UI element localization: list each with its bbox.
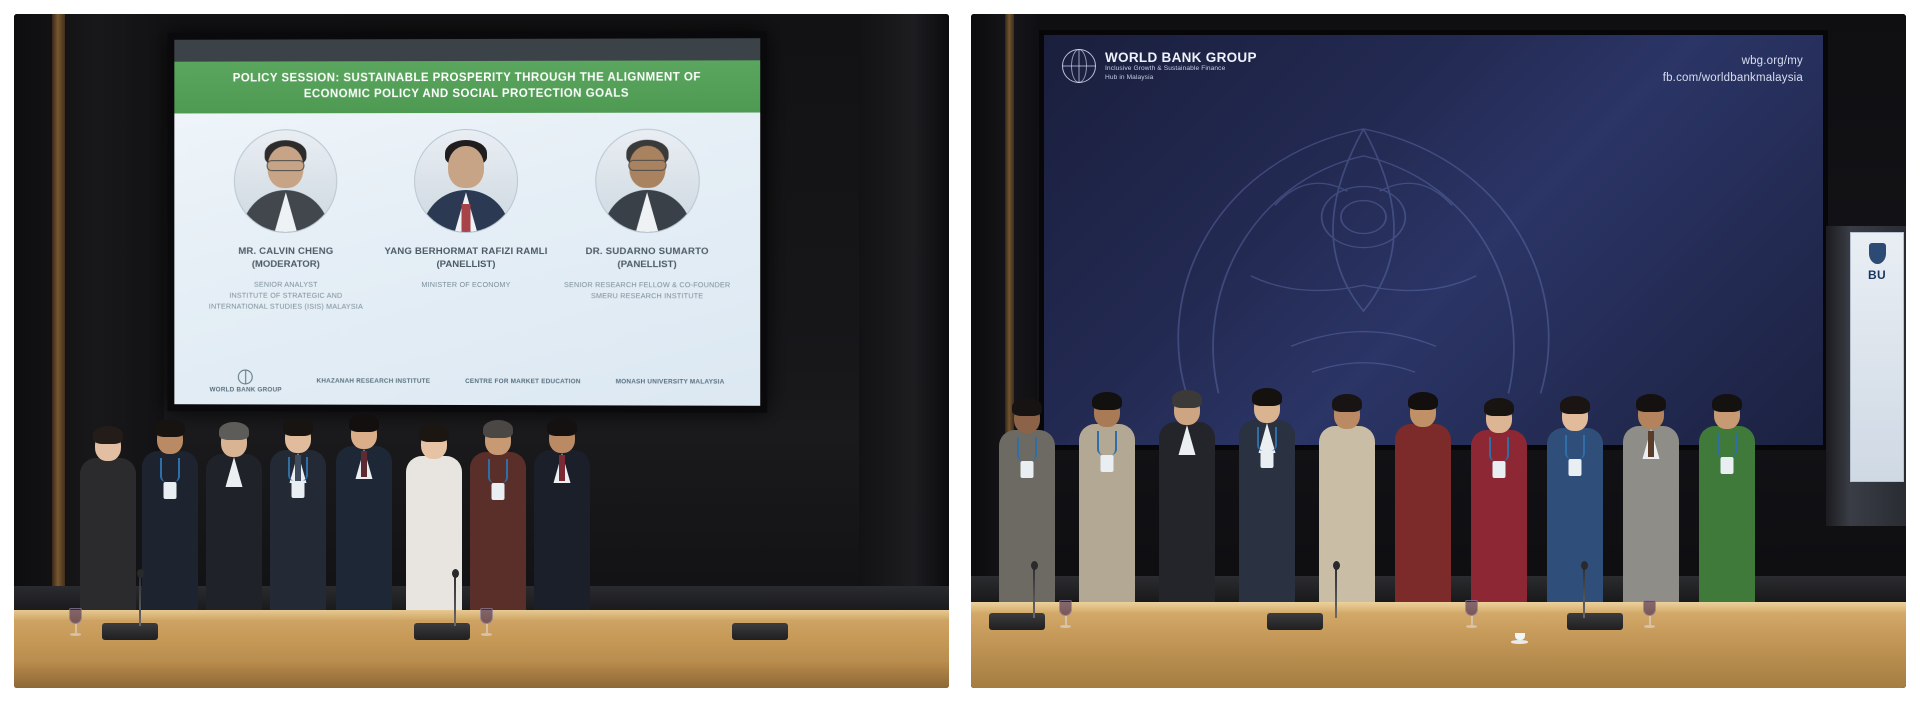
wine-glass bbox=[480, 608, 493, 638]
person bbox=[142, 424, 198, 626]
microphone-base bbox=[1267, 613, 1323, 630]
panelist-role-3: (PANELLIST) bbox=[557, 259, 737, 270]
partner-logo-label: KHAZANAH RESEARCH INSTITUTE bbox=[317, 378, 431, 385]
world-bank-logo-subtitle-2: Hub in Malaysia bbox=[1105, 74, 1257, 83]
screen-urls: wbg.org/my fb.com/worldbankmalaysia bbox=[1663, 53, 1803, 86]
panelist-affiliation-3: SENIOR RESEARCH FELLOW & CO-FOUNDER SMER… bbox=[557, 279, 737, 302]
panelist-portrait-3 bbox=[595, 129, 700, 233]
microphone bbox=[1033, 566, 1035, 618]
right-conference-photo: WORLD BANK GROUP Inclusive Growth & Sust… bbox=[971, 14, 1906, 688]
affil-line: MINISTER OF ECONOMY bbox=[377, 279, 556, 290]
panelist-affiliation-2: MINISTER OF ECONOMY bbox=[377, 279, 556, 290]
right-people-row bbox=[971, 366, 1906, 616]
wine-glass bbox=[1643, 600, 1656, 630]
person bbox=[80, 431, 136, 626]
slide-title: POLICY SESSION: SUSTAINABLE PROSPERITY T… bbox=[174, 60, 760, 113]
world-bank-logo: WORLD BANK GROUP Inclusive Growth & Sust… bbox=[1062, 49, 1257, 83]
left-conference-photo: POLICY SESSION: SUSTAINABLE PROSPERITY T… bbox=[14, 14, 949, 688]
url-facebook: fb.com/worldbankmalaysia bbox=[1663, 70, 1803, 87]
panelist-portrait-1 bbox=[234, 129, 337, 233]
glasses-icon bbox=[628, 160, 666, 171]
wine-glass bbox=[69, 608, 82, 638]
panelist-portrait-row: MR. CALVIN CHENG (MODERATOR) SENIOR ANAL… bbox=[174, 113, 760, 315]
panelist-role-1: (MODERATOR) bbox=[197, 259, 375, 270]
glasses-icon bbox=[267, 160, 305, 171]
left-people-row bbox=[14, 401, 949, 626]
microphone bbox=[139, 574, 141, 626]
coffee-cup bbox=[1511, 633, 1528, 644]
affil-line: SENIOR RESEARCH FELLOW & CO-FOUNDER bbox=[557, 279, 737, 290]
partner-logo-label: CENTRE FOR MARKET EDUCATION bbox=[465, 378, 581, 385]
affil-line: SENIOR ANALYST bbox=[197, 279, 375, 290]
world-bank-logo-subtitle-1: Inclusive Growth & Sustainable Finance bbox=[1105, 65, 1257, 74]
partner-logo-khazanah: KHAZANAH RESEARCH INSTITUTE bbox=[317, 378, 431, 387]
partner-logo-label: MONASH UNIVERSITY MALAYSIA bbox=[616, 379, 725, 386]
microphone-base bbox=[414, 623, 470, 640]
person bbox=[1159, 395, 1215, 616]
panelist-role-2: (PANELLIST) bbox=[377, 259, 556, 270]
affil-line: INSTITUTE OF STRATEGIC AND bbox=[197, 290, 375, 301]
person bbox=[1319, 399, 1375, 616]
affil-line: SMERU RESEARCH INSTITUTE bbox=[557, 290, 737, 301]
person bbox=[206, 427, 262, 626]
microphone-base bbox=[1567, 613, 1623, 630]
panelist-portrait-2 bbox=[414, 129, 518, 233]
person bbox=[1699, 399, 1755, 616]
world-bank-logo-title: WORLD BANK GROUP bbox=[1105, 50, 1257, 65]
partner-logo-monash: MONASH UNIVERSITY MALAYSIA bbox=[616, 379, 725, 388]
partner-logo-worldbank: WORLD BANK GROUP bbox=[209, 369, 281, 394]
microphone bbox=[1583, 566, 1585, 618]
person bbox=[1547, 401, 1603, 616]
wine-glass bbox=[1059, 600, 1072, 630]
partner-logo-label: WORLD BANK GROUP bbox=[209, 386, 281, 393]
panelist-column-2: YANG BERHORMAT RAFIZI RAMLI (PANELLIST) … bbox=[377, 129, 556, 313]
person bbox=[534, 423, 590, 626]
panelist-name-1: MR. CALVIN CHENG bbox=[197, 245, 375, 259]
url-website: wbg.org/my bbox=[1663, 53, 1803, 70]
globe-icon bbox=[1062, 49, 1096, 83]
screenshot-canvas: POLICY SESSION: SUSTAINABLE PROSPERITY T… bbox=[0, 0, 1920, 702]
affil-line: INTERNATIONAL STUDIES (ISIS) MALAYSIA bbox=[197, 301, 375, 312]
banner-text: BU bbox=[1851, 268, 1903, 282]
person bbox=[470, 425, 526, 626]
microphone-base bbox=[102, 623, 158, 640]
panelist-name-3: DR. SUDARNO SUMARTO bbox=[557, 245, 737, 259]
panelist-affiliation-1: SENIOR ANALYST INSTITUTE OF STRATEGIC AN… bbox=[197, 279, 375, 313]
policy-session-slide: POLICY SESSION: SUSTAINABLE PROSPERITY T… bbox=[174, 38, 760, 406]
person bbox=[1471, 403, 1527, 616]
crest-icon bbox=[1869, 243, 1886, 264]
microphone bbox=[1335, 566, 1337, 618]
microphone-base bbox=[989, 613, 1045, 630]
panelist-column-3: DR. SUDARNO SUMARTO (PANELLIST) SENIOR R… bbox=[557, 129, 737, 313]
person bbox=[336, 419, 392, 626]
person bbox=[1079, 397, 1135, 616]
person bbox=[999, 403, 1055, 616]
slide-partner-logos: WORLD BANK GROUP KHAZANAH RESEARCH INSTI… bbox=[174, 365, 760, 406]
person bbox=[1623, 399, 1679, 616]
partner-logo-cme: CENTRE FOR MARKET EDUCATION bbox=[465, 378, 581, 387]
microphone bbox=[454, 574, 456, 626]
globe-icon bbox=[238, 369, 253, 384]
panelist-column-1: MR. CALVIN CHENG (MODERATOR) SENIOR ANAL… bbox=[197, 129, 375, 312]
wine-glass bbox=[1465, 600, 1478, 630]
presentation-screen: POLICY SESSION: SUSTAINABLE PROSPERITY T… bbox=[167, 31, 767, 413]
person bbox=[270, 423, 326, 626]
right-dais-table bbox=[971, 602, 1906, 688]
person bbox=[1239, 393, 1295, 616]
microphone-base bbox=[732, 623, 788, 640]
panelist-name-2: YANG BERHORMAT RAFIZI RAMLI bbox=[377, 245, 556, 259]
person bbox=[1395, 397, 1451, 616]
slide-top-bar bbox=[174, 38, 760, 62]
